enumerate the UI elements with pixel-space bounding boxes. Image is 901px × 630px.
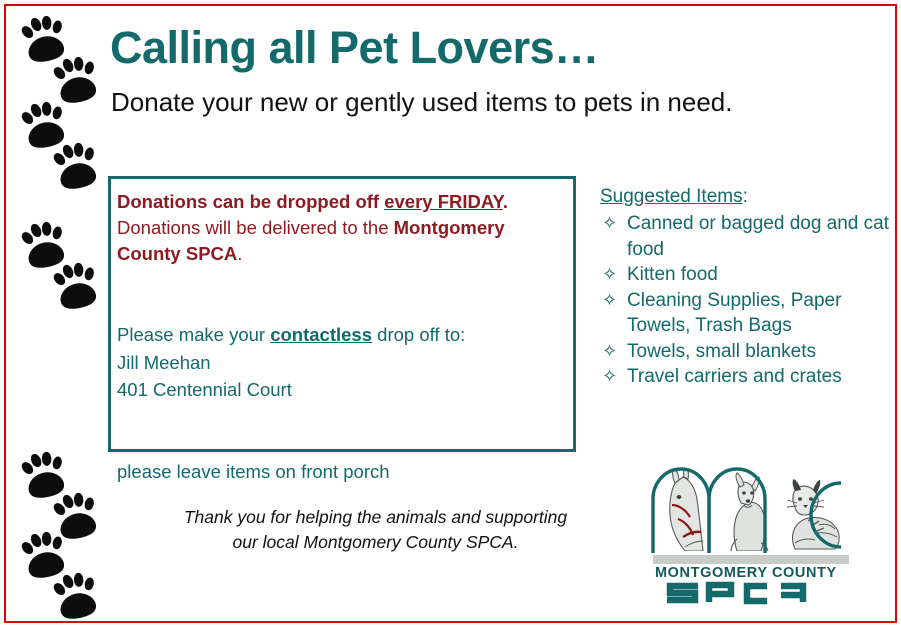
list-item: ✧ Towels, small blankets xyxy=(600,339,890,365)
delivery-suffix: . xyxy=(237,243,242,264)
star-bullet-icon: ✧ xyxy=(602,288,617,314)
thank-you-note: Thank you for helping the animals and su… xyxy=(178,505,573,555)
list-item-label: Towels, small blankets xyxy=(627,341,816,362)
logo-divider-bar-top xyxy=(653,555,849,564)
list-item: ✧ Travel carriers and crates xyxy=(600,364,890,390)
list-item: ✧ Canned or bagged dog and cat food xyxy=(600,211,890,262)
dropoff-day-prefix: Donations can be dropped off xyxy=(117,191,384,212)
star-bullet-icon: ✧ xyxy=(602,211,617,237)
paw-print-icon xyxy=(43,134,109,200)
star-bullet-icon: ✧ xyxy=(602,364,617,390)
list-item-label: Kitten food xyxy=(627,264,718,285)
contactless-emphasis: contactless xyxy=(270,324,372,345)
dropoff-day-text: Donations can be dropped off every FRIDA… xyxy=(117,189,561,215)
suggested-items-title: Suggested Items: xyxy=(600,184,890,210)
list-item-label: Travel carriers and crates xyxy=(627,366,842,387)
box-spacer xyxy=(117,404,561,431)
star-bullet-icon: ✧ xyxy=(602,262,617,288)
contactless-suffix: drop off to: xyxy=(372,324,465,345)
paw-print-trail xyxy=(0,0,110,627)
donation-info-box: Donations can be dropped off every FRIDA… xyxy=(108,176,576,452)
porch-instruction: please leave items on front porch xyxy=(117,458,561,486)
page-subtitle: Donate your new or gently used items to … xyxy=(111,87,732,118)
star-bullet-icon: ✧ xyxy=(602,339,617,365)
suggested-items-list: ✧ Canned or bagged dog and cat food ✧ Ki… xyxy=(600,211,890,390)
paw-print-icon xyxy=(43,564,109,630)
page-title: Calling all Pet Lovers… xyxy=(110,22,599,74)
paw-print-icon xyxy=(43,254,109,320)
logo-org-line2 xyxy=(667,585,803,602)
list-item-label: Canned or bagged dog and cat food xyxy=(627,213,889,260)
contactless-prefix: Please make your xyxy=(117,324,270,345)
dropoff-day-suffix: . xyxy=(503,191,508,212)
flyer-page: Calling all Pet Lovers… Donate your new … xyxy=(0,0,901,627)
box-spacer xyxy=(117,431,561,458)
list-item: ✧ Kitten food xyxy=(600,262,890,288)
suggested-items-section: Suggested Items: ✧ Canned or bagged dog … xyxy=(600,184,890,390)
contactless-text: Please make your contactless drop off to… xyxy=(117,321,561,349)
logo-org-line1: MONTGOMERY COUNTY xyxy=(655,565,837,581)
delivery-prefix: Donations will be delivered to the xyxy=(117,217,394,238)
delivery-text: Donations will be delivered to the Montg… xyxy=(117,215,561,267)
contact-address: 401 Centennial Court xyxy=(117,376,561,404)
suggested-items-title-colon: : xyxy=(743,186,748,207)
mc-spca-logo: MONTGOMERY COUNTY xyxy=(645,447,860,607)
box-spacer xyxy=(117,267,561,294)
suggested-items-title-text: Suggested Items xyxy=(600,186,743,207)
list-item-label: Cleaning Supplies, Paper Towels, Trash B… xyxy=(627,290,841,337)
list-item: ✧ Cleaning Supplies, Paper Towels, Trash… xyxy=(600,288,890,339)
dropoff-day-emphasis: every FRIDAY xyxy=(384,191,503,212)
box-spacer xyxy=(117,294,561,321)
contact-name: Jill Meehan xyxy=(117,349,561,377)
